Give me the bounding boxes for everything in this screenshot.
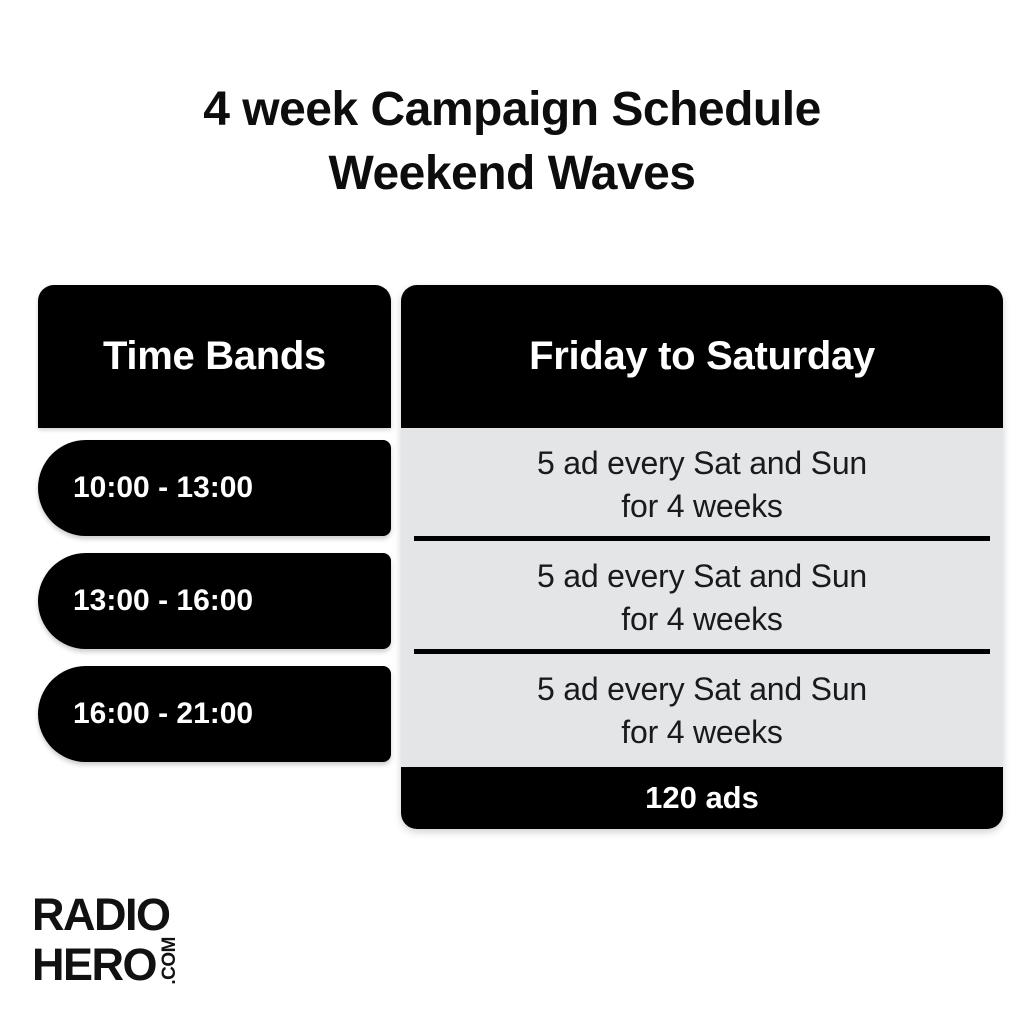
time-band-label: 16:00 - 21:00 — [38, 697, 253, 731]
schedule-cell-1[interactable]: 5 ad every Sat and Sun for 4 weeks — [401, 428, 1003, 541]
logo-dotcom-suffix: .COM — [160, 937, 179, 985]
schedule-cell-line-1: 5 ad every Sat and Sun — [537, 668, 867, 711]
logo-line-hero: HERO — [32, 943, 156, 987]
time-band-row-1[interactable]: 10:00 - 13:00 — [38, 440, 391, 536]
radiohero-logo[interactable]: RADIO HERO .COM — [32, 893, 292, 993]
time-band-label: 13:00 - 16:00 — [38, 584, 253, 618]
schedule-cell-3[interactable]: 5 ad every Sat and Sun for 4 weeks — [401, 654, 1003, 767]
total-ads-label: 120 ads — [645, 780, 759, 816]
schedule-cell-line-2: for 4 weeks — [621, 711, 782, 754]
day-column: Friday to Saturday 5 ad every Sat and Su… — [401, 285, 1003, 829]
page-title-line-2: Weekend Waves — [0, 142, 1024, 206]
day-column-header-label: Friday to Saturday — [529, 334, 875, 379]
page-title-line-1: 4 week Campaign Schedule — [0, 78, 1024, 142]
schedule-cell-line-1: 5 ad every Sat and Sun — [537, 555, 867, 598]
day-column-total: 120 ads — [401, 767, 1003, 829]
schedule-cell-line-2: for 4 weeks — [621, 485, 782, 528]
schedule-cell-2[interactable]: 5 ad every Sat and Sun for 4 weeks — [401, 541, 1003, 654]
page-title: 4 week Campaign Schedule Weekend Waves — [0, 78, 1024, 206]
day-column-cells: 5 ad every Sat and Sun for 4 weeks 5 ad … — [401, 428, 1003, 767]
time-bands-header-label: Time Bands — [103, 334, 326, 379]
logo-line-radio: RADIO — [32, 893, 292, 937]
time-bands-column-header: Time Bands — [38, 285, 391, 428]
time-band-row-3[interactable]: 16:00 - 21:00 — [38, 666, 391, 762]
time-band-row-2[interactable]: 13:00 - 16:00 — [38, 553, 391, 649]
schedule-cell-line-1: 5 ad every Sat and Sun — [537, 442, 867, 485]
schedule-cell-line-2: for 4 weeks — [621, 598, 782, 641]
time-band-label: 10:00 - 13:00 — [38, 471, 253, 505]
logo-row-hero: HERO .COM — [32, 937, 292, 987]
day-column-header: Friday to Saturday — [401, 285, 1003, 428]
campaign-schedule-table: Time Bands 10:00 - 13:00 13:00 - 16:00 1… — [38, 285, 1003, 837]
